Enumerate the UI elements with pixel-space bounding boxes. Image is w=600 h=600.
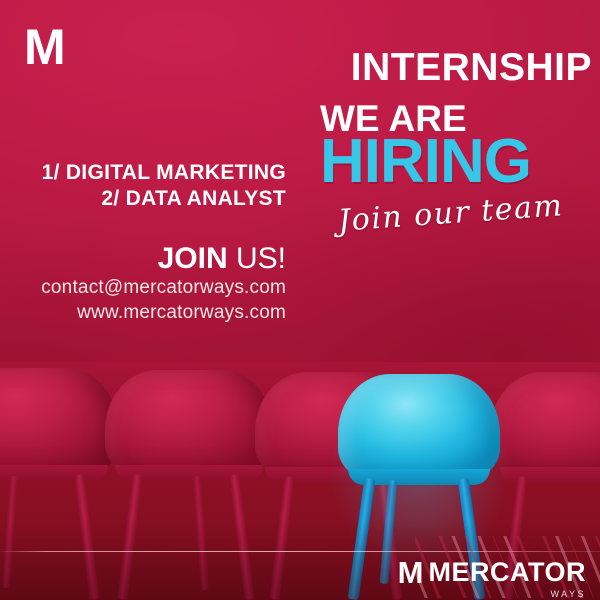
contact-email[interactable]: contact@mercatorways.com xyxy=(0,275,286,300)
recruitment-poster: M INTERNSHIP WE ARE HIRING Join our team… xyxy=(0,0,600,600)
contact-website[interactable]: www.mercatorways.com xyxy=(0,300,286,325)
horizon-line xyxy=(0,551,600,552)
headline-block: INTERNSHIP WE ARE HIRING Join our team xyxy=(320,48,592,190)
chair-shell xyxy=(105,370,273,478)
brand-lockup: M MERCATOR WAYS xyxy=(398,559,586,588)
chair-seat-lip xyxy=(500,467,600,483)
cta-join-us: JOIN US! xyxy=(0,243,286,275)
brand-name: MERCATOR xyxy=(429,560,587,586)
position-item: 2/ DATA ANALYST xyxy=(0,186,286,212)
logo-monogram: M xyxy=(24,22,64,72)
chair-shell xyxy=(490,372,600,480)
chair-shell xyxy=(0,368,118,478)
brand-word-wrapper: MERCATOR WAYS xyxy=(429,560,587,588)
chair-shell xyxy=(338,374,500,482)
cta-contact-block: JOIN US! contact@mercatorways.com www.me… xyxy=(0,243,286,326)
brand-monogram-icon: M xyxy=(398,559,423,588)
brand-tagline: WAYS xyxy=(550,589,586,599)
headline-internship: INTERNSHIP xyxy=(320,48,592,88)
open-positions-list: 1/ DIGITAL MARKETING 2/ DATA ANALYST xyxy=(0,160,286,211)
cta-join-strong: JOIN xyxy=(158,242,228,275)
headline-hiring: HIRING xyxy=(320,133,592,190)
cta-us-light: US! xyxy=(236,242,286,275)
position-item: 1/ DIGITAL MARKETING xyxy=(0,160,286,186)
